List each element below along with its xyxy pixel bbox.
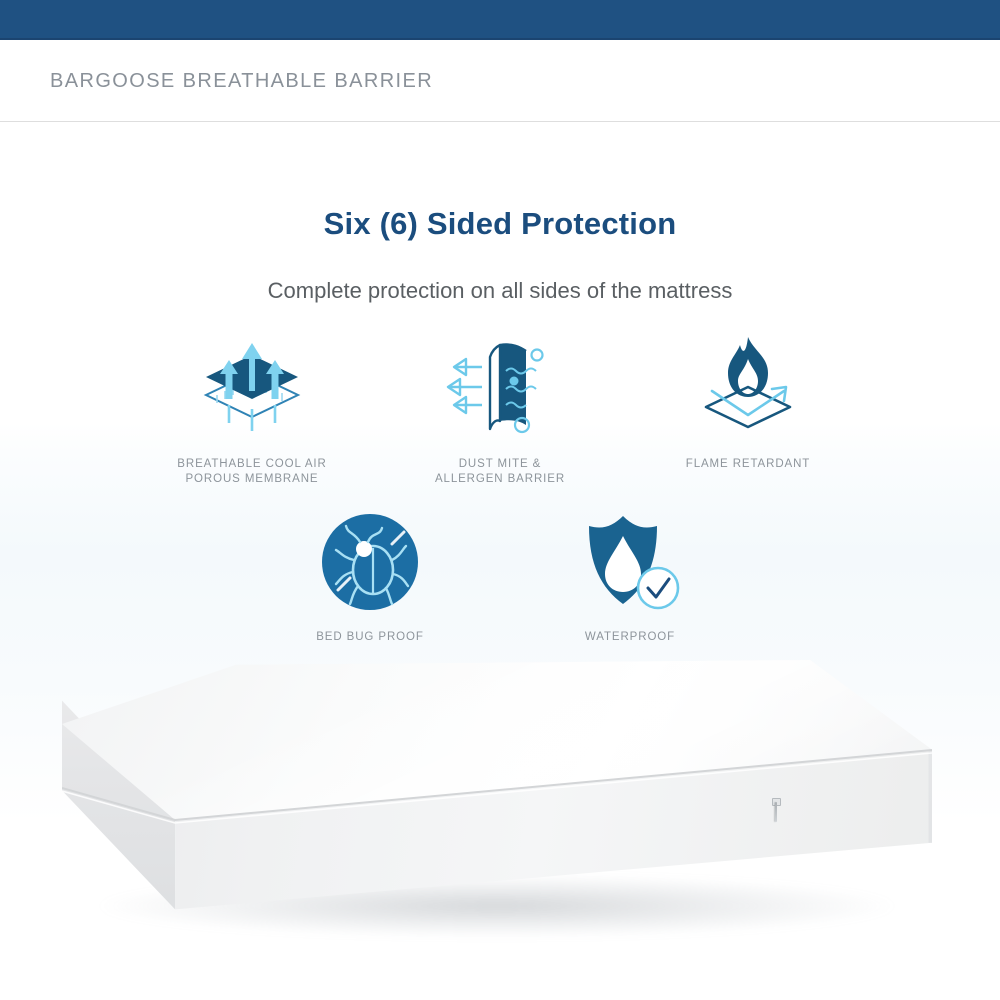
- feature-label: FLAME RETARDANT: [686, 457, 810, 472]
- page-title: BARGOOSE BREATHABLE BARRIER: [50, 70, 433, 93]
- feature-waterproof: WATERPROOF: [500, 508, 760, 645]
- title-bar-inner: BARGOOSE BREATHABLE BARRIER: [50, 70, 433, 93]
- breathable-air-membrane-icon: [196, 331, 308, 439]
- hero-headline: Six (6) Sided Protection: [0, 206, 1000, 242]
- bed-bug-proof-icon: [320, 508, 420, 616]
- waterproof-shield-icon: [575, 508, 685, 616]
- zipper-pull: [775, 802, 777, 822]
- feature-dust-mite-allergen: DUST MITE & ALLERGEN BARRIER: [376, 331, 624, 487]
- hero-subheadline: Complete protection on all sides of the …: [0, 278, 1000, 304]
- top-blue-bar: [0, 0, 1000, 40]
- feature-row-bottom: BED BUG PROOF WATERPROOF: [0, 508, 1000, 645]
- feature-row-top: BREATHABLE COOL AIR POROUS MEMBRANE: [0, 331, 1000, 487]
- feature-label: DUST MITE & ALLERGEN BARRIER: [435, 457, 565, 487]
- flame-retardant-icon: [692, 331, 804, 439]
- feature-label: BREATHABLE COOL AIR POROUS MEMBRANE: [177, 457, 326, 487]
- main-content: Six (6) Sided Protection Complete protec…: [0, 123, 1000, 1000]
- feature-breathable-cool-air: BREATHABLE COOL AIR POROUS MEMBRANE: [128, 331, 376, 487]
- product-title-bar: BARGOOSE BREATHABLE BARRIER: [0, 40, 1000, 122]
- feature-flame-retardant: FLAME RETARDANT: [624, 331, 872, 487]
- feature-bed-bug-proof: BED BUG PROOF: [240, 508, 500, 645]
- product-image-stage: [0, 648, 1000, 1000]
- dust-mite-allergen-barrier-icon: [444, 331, 556, 439]
- feature-label: WATERPROOF: [585, 630, 675, 645]
- feature-label: BED BUG PROOF: [316, 630, 424, 645]
- mattress-encasement-photo: [62, 660, 932, 960]
